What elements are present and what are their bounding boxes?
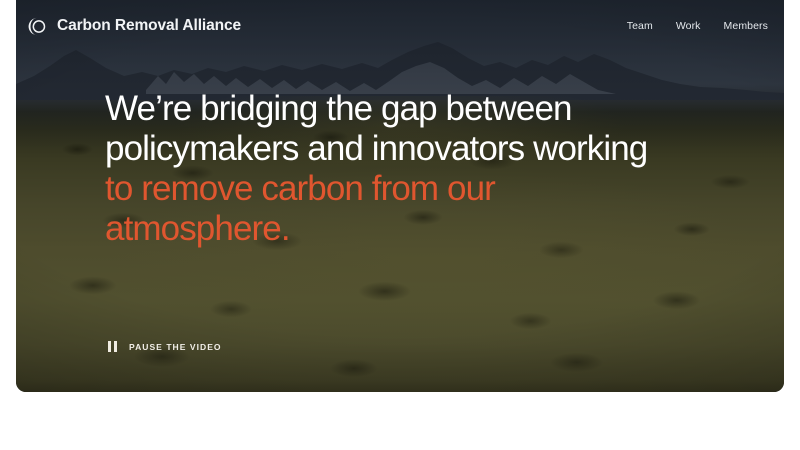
site-header: Carbon Removal Alliance Team Work Member…: [16, 0, 784, 52]
hero-headline: We’re bridging the gap between policymak…: [105, 89, 745, 249]
pause-video-label: PAUSE THE VIDEO: [129, 342, 222, 352]
nav-link-work[interactable]: Work: [676, 20, 701, 32]
nav-link-team[interactable]: Team: [627, 20, 653, 32]
headline-line-3-accent: to remove carbon from our: [105, 169, 745, 209]
main-navigation: Team Work Members: [627, 20, 768, 32]
headline-line-2: policymakers and innovators working: [105, 129, 745, 169]
headline-line-4-accent: atmosphere.: [105, 209, 745, 249]
carbon-removal-alliance-circle-mark-icon: [27, 16, 48, 37]
pause-video-button[interactable]: PAUSE THE VIDEO: [108, 341, 222, 352]
brand-logo-link[interactable]: Carbon Removal Alliance: [27, 16, 241, 37]
hero-section: Carbon Removal Alliance Team Work Member…: [16, 0, 784, 392]
brand-name-text: Carbon Removal Alliance: [57, 17, 241, 35]
nav-link-members[interactable]: Members: [724, 20, 768, 32]
headline-line-1: We’re bridging the gap between: [105, 89, 745, 129]
below-hero-section: [16, 398, 784, 450]
page-root: Carbon Removal Alliance Team Work Member…: [0, 0, 800, 450]
pause-icon: [108, 341, 117, 352]
